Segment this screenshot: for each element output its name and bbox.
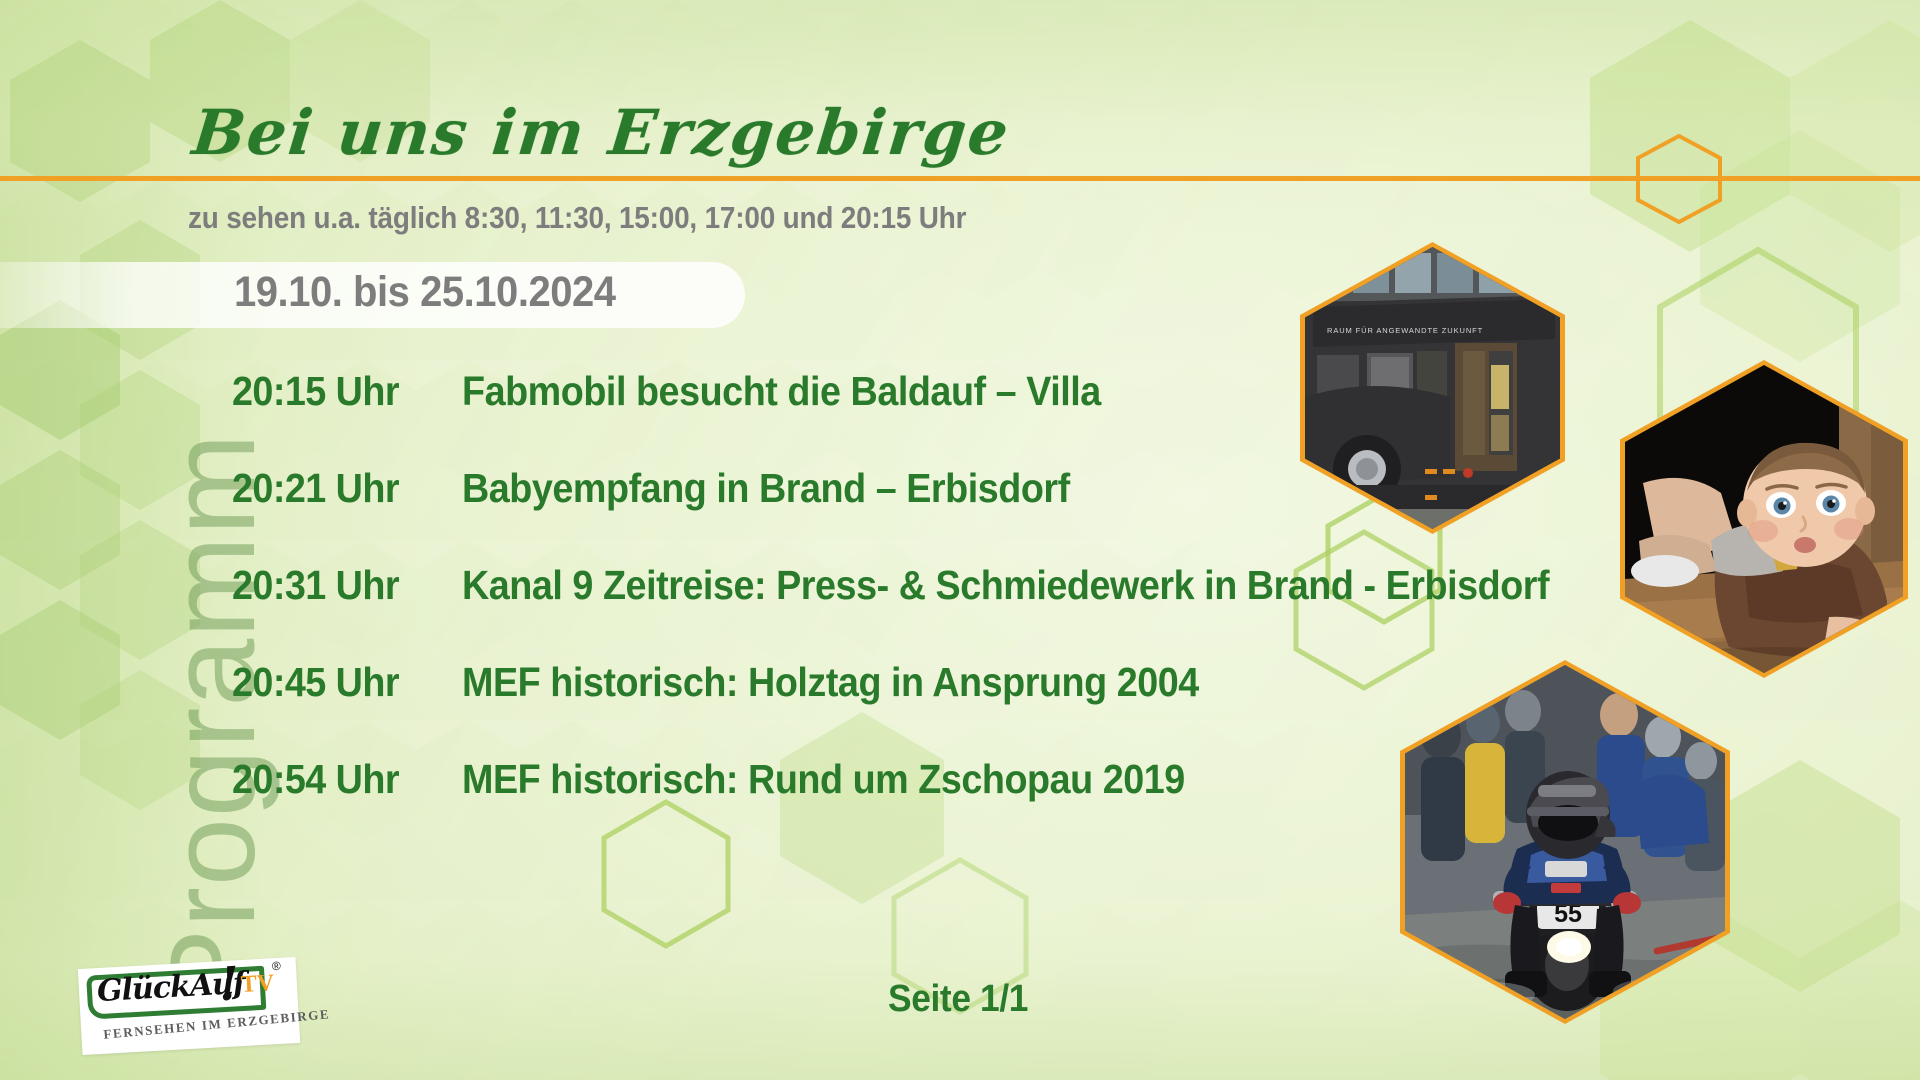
photo-image: RAUM FÜR ANGEWANDTE ZUKUNFT bbox=[1305, 247, 1560, 529]
title-divider-line bbox=[0, 176, 1920, 181]
logo-exclamation-icon: ! bbox=[217, 956, 240, 1011]
svg-text:RAUM FÜR ANGEWANDTE ZUKUNFT: RAUM FÜR ANGEWANDTE ZUKUNFT bbox=[1327, 326, 1483, 335]
photo-image: 55 bbox=[1405, 665, 1725, 1019]
logo-tv-text: TV bbox=[240, 970, 275, 999]
schedule-row[interactable]: 20:31 Uhr Kanal 9 Zeitreise: Press- & Sc… bbox=[232, 562, 1592, 659]
schedule-title: Babyempfang in Brand – Erbisdorf bbox=[462, 465, 1070, 512]
page-indicator: Seite 1/1 bbox=[888, 978, 1028, 1021]
registered-trademark-icon: ® bbox=[272, 959, 282, 973]
schedule-time: 20:15 Uhr bbox=[232, 368, 444, 415]
motocross-photo[interactable]: 55 bbox=[1400, 660, 1730, 1024]
page-title: Bei uns im Erzgebirge bbox=[189, 96, 1013, 169]
fabmobil-bus-photo[interactable]: RAUM FÜR ANGEWANDTE ZUKUNFT bbox=[1300, 242, 1565, 534]
schedule-time: 20:21 Uhr bbox=[232, 465, 444, 512]
baby-photo[interactable] bbox=[1620, 360, 1908, 678]
schedule-time: 20:54 Uhr bbox=[232, 756, 444, 803]
program-slide: Programm Bei uns im Erzgebirge zu sehen … bbox=[0, 0, 1920, 1080]
schedule-row[interactable]: 20:54 Uhr MEF historisch: Rund um Zschop… bbox=[232, 756, 1592, 853]
photo-image bbox=[1625, 365, 1903, 673]
broadcast-times-subtitle: zu sehen u.a. täglich 8:30, 11:30, 15:00… bbox=[188, 200, 966, 236]
date-range-text: 19.10. bis 25.10.2024 bbox=[234, 268, 616, 317]
schedule-row[interactable]: 20:45 Uhr MEF historisch: Holztag in Ans… bbox=[232, 659, 1592, 756]
schedule-title: Kanal 9 Zeitreise: Press- & Schmiedewerk… bbox=[462, 562, 1549, 609]
schedule-title: MEF historisch: Rund um Zschopau 2019 bbox=[462, 756, 1185, 803]
title-line-hexagon-endcap bbox=[1636, 134, 1722, 224]
glueckauf-tv-logo: GlückAuf ! TV ® FERNSEHEN IM ERZGEBIRGE bbox=[78, 957, 300, 1055]
schedule-title: Fabmobil besucht die Baldauf – Villa bbox=[462, 368, 1101, 415]
schedule-time: 20:45 Uhr bbox=[232, 659, 444, 706]
schedule-title: MEF historisch: Holztag in Ansprung 2004 bbox=[462, 659, 1199, 706]
schedule-time: 20:31 Uhr bbox=[232, 562, 444, 609]
